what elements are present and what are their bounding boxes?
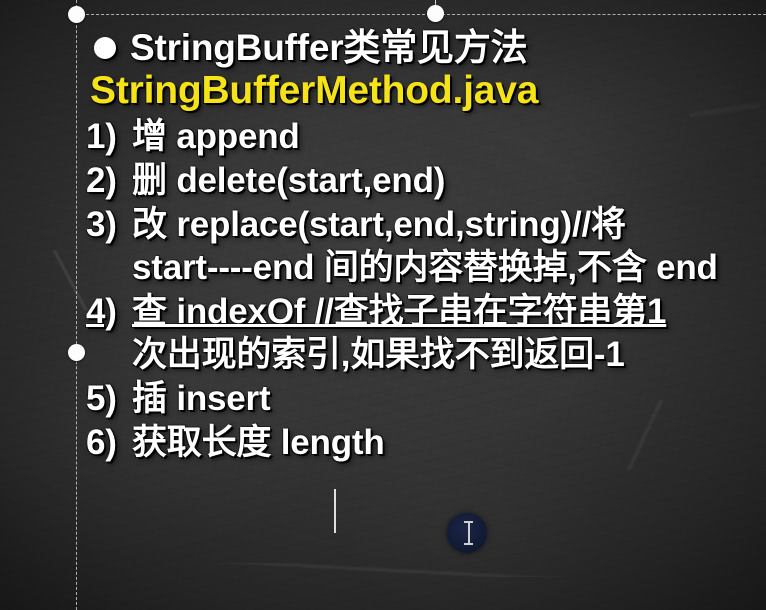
list-item-line-1: 查 indexOf //查找子串在字符串第1 <box>132 292 666 331</box>
list-item-body: 查 indexOf //查找子串在字符串第1 次出现的索引,如果找不到返回-1 <box>132 290 766 376</box>
resize-handle-middle-left-icon[interactable] <box>68 344 85 361</box>
rotate-handle-top-center-icon[interactable] <box>427 5 444 22</box>
list-item: 1) 增 append <box>86 115 766 158</box>
list-item-body: 删 delete(start,end) <box>132 159 766 202</box>
list-item: 6) 获取长度 length <box>86 421 766 464</box>
chalkboard-scratch <box>0 563 766 577</box>
list-item-marker: 2) <box>86 159 132 202</box>
list-item-marker: 6) <box>86 421 132 464</box>
list-item-marker: 5) <box>86 377 132 420</box>
list-item-body: 插 insert <box>132 377 766 420</box>
list-item-line-1: 获取长度 length <box>132 423 385 462</box>
resize-handle-top-left-icon[interactable] <box>68 6 85 23</box>
slide-subtitle: StringBufferMethod.java <box>90 68 766 114</box>
selection-border-top <box>76 14 766 15</box>
list-item-marker: 3) <box>86 203 132 246</box>
list-item: 3) 改 replace(start,end,string)//将 start-… <box>86 203 766 289</box>
list-item-line-2: 次出现的索引,如果找不到返回-1 <box>132 333 766 376</box>
list-item-line-1: 增 append <box>132 117 300 156</box>
list-item: 5) 插 insert <box>86 377 766 420</box>
list-item-line-1: 插 insert <box>132 379 270 418</box>
text-insertion-caret <box>334 489 336 533</box>
list-item-body: 改 replace(start,end,string)//将 start----… <box>132 203 766 289</box>
slide-canvas[interactable]: StringBuffer类常见方法 StringBufferMethod.jav… <box>0 0 766 610</box>
list-item-line-1: 改 replace(start,end,string)//将 <box>132 205 626 244</box>
selection-border-left <box>76 0 77 610</box>
slide-title-row: StringBuffer类常见方法 <box>94 26 766 70</box>
slide-text-block[interactable]: StringBuffer类常见方法 StringBufferMethod.jav… <box>86 26 766 464</box>
list-item-body: 增 append <box>132 115 766 158</box>
list-item-body: 获取长度 length <box>132 421 766 464</box>
list-item-marker: 4) <box>86 290 132 333</box>
list-item: 2) 删 delete(start,end) <box>86 159 766 202</box>
list-item-line-2: start----end 间的内容替换掉,不含 end <box>132 246 766 289</box>
list-item-line-1: 删 delete(start,end) <box>132 161 445 200</box>
filled-circle-bullet-icon <box>94 37 116 59</box>
i-beam-cursor-icon <box>464 521 473 545</box>
list-item-marker: 1) <box>86 115 132 158</box>
list-item: 4) 查 indexOf //查找子串在字符串第1 次出现的索引,如果找不到返回… <box>86 290 766 376</box>
slide-title: StringBuffer类常见方法 <box>130 26 527 70</box>
